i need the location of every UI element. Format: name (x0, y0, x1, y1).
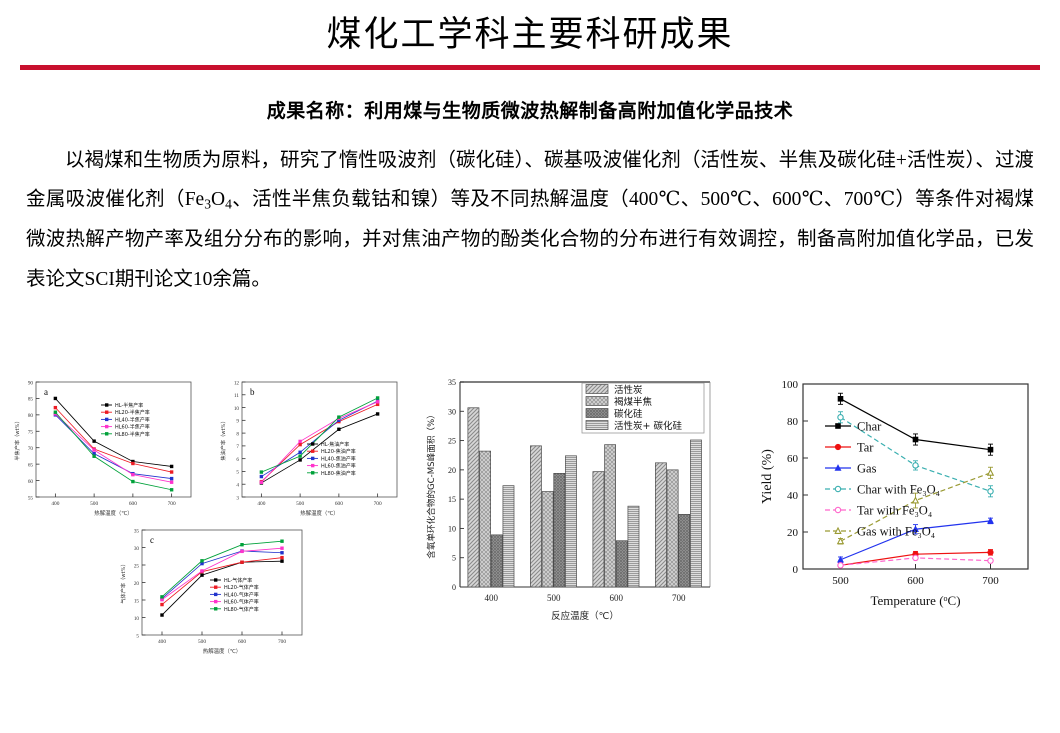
svg-text:a: a (44, 387, 48, 397)
svg-text:7: 7 (236, 444, 239, 450)
svg-text:85: 85 (28, 397, 34, 403)
paragraph-text-2: O (211, 189, 225, 210)
svg-text:20: 20 (787, 527, 799, 539)
svg-text:35: 35 (448, 378, 456, 387)
svg-text:400: 400 (158, 639, 166, 645)
svg-text:75: 75 (28, 430, 34, 436)
svg-text:65: 65 (28, 462, 34, 468)
svg-text:HL40-焦油产率: HL40-焦油产率 (321, 455, 356, 462)
body-paragraph: 以褐煤和生物质为原料，研究了惰性吸波剂（碳化硅）、碳基吸波催化剂（活性炭、半焦及… (26, 141, 1034, 301)
svg-text:HL20-焦油产率: HL20-焦油产率 (321, 448, 356, 455)
svg-text:6: 6 (236, 457, 239, 463)
svg-text:40: 40 (787, 490, 799, 502)
svg-text:500: 500 (90, 501, 98, 507)
svg-text:焦油产率（wt%）: 焦油产率（wt%） (219, 418, 227, 460)
formula-sub-3: 3 (204, 197, 211, 212)
svg-text:12: 12 (234, 380, 240, 386)
svg-text:HL40-半焦产率: HL40-半焦产率 (115, 416, 150, 423)
svg-text:600: 600 (238, 639, 246, 645)
svg-text:20: 20 (134, 581, 140, 587)
chart-tar-yield: 3456789101112400500600700热解温度（℃）焦油产率（wt%… (212, 372, 417, 537)
svg-text:半焦产率（wt%）: 半焦产率（wt%） (13, 418, 21, 460)
svg-text:15: 15 (448, 495, 456, 504)
svg-text:HL80-半焦产率: HL80-半焦产率 (115, 431, 150, 438)
svg-text:含氧单环化合物的GC-MS峰面积（%）: 含氧单环化合物的GC-MS峰面积（%） (425, 410, 437, 559)
svg-text:25: 25 (448, 437, 456, 446)
svg-text:热解温度（℃）: 热解温度（℃） (94, 509, 132, 517)
svg-text:热解温度（℃）: 热解温度（℃） (203, 647, 241, 655)
svg-text:100: 100 (782, 379, 799, 391)
slide: 煤化工学科主要科研成果 成果名称：利用煤与生物质微波热解制备高附加值化学品技术 … (0, 0, 1060, 733)
svg-text:HL60-气体产率: HL60-气体产率 (224, 599, 259, 606)
svg-text:活性炭: 活性炭 (614, 384, 643, 396)
svg-text:500: 500 (832, 575, 849, 587)
svg-text:700: 700 (168, 501, 176, 507)
svg-text:Yield (%): Yield (%) (760, 449, 775, 504)
svg-text:Temperature (oC): Temperature (oC) (870, 593, 960, 608)
svg-text:Gas: Gas (857, 462, 877, 476)
formula-sub-4: 4 (225, 197, 232, 212)
svg-text:400: 400 (257, 501, 265, 507)
svg-text:褐煤半焦: 褐煤半焦 (614, 396, 653, 408)
svg-text:HL60-半焦产率: HL60-半焦产率 (115, 424, 150, 431)
svg-text:HL20-半焦产率: HL20-半焦产率 (115, 409, 150, 416)
svg-text:20: 20 (448, 466, 456, 475)
svg-text:Gas with Fe₃O₄: Gas with Fe₃O₄ (857, 525, 935, 539)
svg-text:500: 500 (296, 501, 304, 507)
svg-text:25: 25 (134, 563, 140, 569)
svg-text:400: 400 (485, 593, 499, 603)
svg-text:HL40-气体产率: HL40-气体产率 (224, 591, 259, 598)
svg-text:反应温度（℃）: 反应温度（℃） (551, 610, 619, 622)
figure-region: 5560657075808590400500600700热解温度（℃）半焦产率（… (0, 372, 1060, 672)
chart-gcms-bar: 05101520253035400500600700反应温度（℃）含氧单环化合物… (414, 372, 734, 622)
svg-text:700: 700 (278, 639, 286, 645)
svg-text:HL20-气体产率: HL20-气体产率 (224, 584, 259, 591)
svg-text:400: 400 (51, 501, 59, 507)
svg-text:60: 60 (28, 479, 34, 485)
svg-text:HL-气体产率: HL-气体产率 (224, 577, 252, 584)
svg-text:700: 700 (374, 501, 382, 507)
svg-text:HL-半焦产率: HL-半焦产率 (115, 402, 143, 409)
svg-text:Tar with Fe₃O₄: Tar with Fe₃O₄ (857, 504, 932, 518)
chart-gas-yield: 5101520253035400500600700热解温度（℃）气体产率（wt%… (110, 522, 320, 667)
svg-text:HL60-焦油产率: HL60-焦油产率 (321, 463, 356, 470)
svg-text:500: 500 (198, 639, 206, 645)
page-title: 煤化工学科主要科研成果 (0, 0, 1060, 55)
svg-text:15: 15 (134, 598, 140, 604)
svg-text:700: 700 (982, 575, 999, 587)
svg-text:8: 8 (236, 431, 239, 437)
chart-semicoke-yield: 5560657075808590400500600700热解温度（℃）半焦产率（… (6, 372, 211, 537)
svg-text:90: 90 (28, 380, 34, 386)
svg-text:80: 80 (28, 413, 34, 419)
svg-text:Tar: Tar (857, 441, 874, 455)
svg-text:10: 10 (134, 616, 140, 622)
svg-text:HL80-焦油产率: HL80-焦油产率 (321, 470, 356, 477)
svg-text:活性炭+ 碳化硅: 活性炭+ 碳化硅 (614, 420, 682, 432)
svg-text:b: b (250, 387, 255, 397)
chart-yield-fe3o4: 020406080100500600700Temperature (oC)Yie… (748, 372, 1053, 632)
svg-text:4: 4 (236, 483, 239, 489)
svg-text:c: c (150, 535, 154, 545)
svg-text:9: 9 (236, 419, 239, 425)
svg-text:HL80-气体产率: HL80-气体产率 (224, 606, 259, 613)
svg-text:10: 10 (234, 406, 240, 412)
svg-text:5: 5 (136, 633, 139, 639)
svg-text:600: 600 (610, 593, 624, 603)
svg-text:70: 70 (28, 446, 34, 452)
svg-text:5: 5 (452, 554, 456, 563)
svg-text:60: 60 (787, 453, 799, 465)
svg-text:0: 0 (452, 583, 456, 592)
svg-text:HL-焦油产率: HL-焦油产率 (321, 441, 349, 448)
svg-text:0: 0 (793, 564, 799, 576)
achievement-subtitle: 成果名称：利用煤与生物质微波热解制备高附加值化学品技术 (0, 96, 1060, 123)
svg-text:30: 30 (448, 407, 456, 416)
svg-text:600: 600 (335, 501, 343, 507)
svg-text:30: 30 (134, 546, 140, 552)
svg-text:600: 600 (129, 501, 137, 507)
svg-text:500: 500 (547, 593, 561, 603)
svg-text:5: 5 (236, 470, 239, 476)
svg-text:10: 10 (448, 524, 456, 533)
svg-text:11: 11 (234, 393, 239, 399)
svg-text:Char: Char (857, 420, 882, 434)
svg-text:3: 3 (236, 495, 239, 501)
svg-text:Char with Fe₃O₄: Char with Fe₃O₄ (857, 483, 940, 497)
title-divider (20, 65, 1040, 70)
svg-text:气体产率（wt%）: 气体产率（wt%） (119, 561, 127, 603)
svg-text:碳化硅: 碳化硅 (614, 408, 643, 420)
svg-text:600: 600 (907, 575, 924, 587)
svg-text:55: 55 (28, 495, 34, 501)
svg-text:700: 700 (672, 593, 686, 603)
svg-text:热解温度（℃）: 热解温度（℃） (300, 509, 338, 517)
svg-text:80: 80 (787, 416, 799, 428)
svg-text:35: 35 (134, 528, 140, 534)
